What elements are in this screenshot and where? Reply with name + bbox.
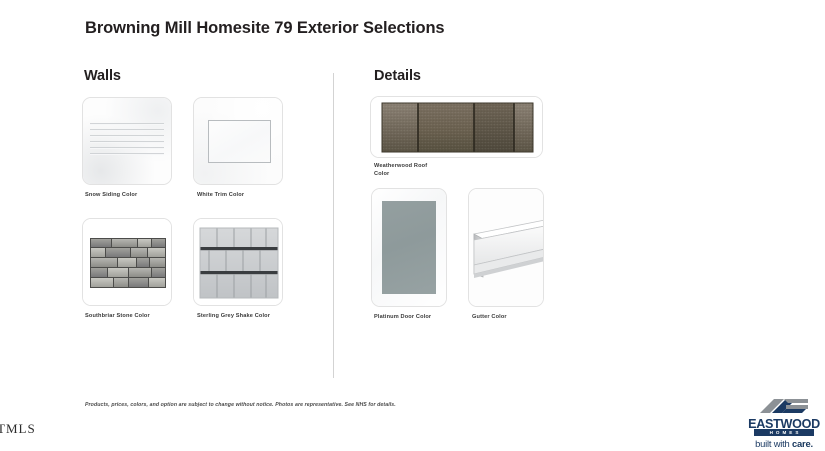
southbriar-stone-swatch — [82, 218, 172, 306]
logo-tagline-plain: built with — [755, 438, 792, 449]
sterling-grey-shake-swatch — [193, 218, 283, 306]
snow-siding-texture — [83, 98, 171, 184]
southbriar-stone-texture — [83, 219, 171, 305]
southbriar-stone-caption: Southbriar Stone Color — [85, 312, 150, 320]
weatherwood-roof-texture — [371, 97, 542, 157]
section-heading-walls: Walls — [84, 68, 121, 84]
weatherwood-roof-caption: Weatherwood Roof Color — [374, 162, 427, 178]
gutter-color-caption: Gutter Color — [472, 313, 507, 321]
platinum-door-texture — [372, 189, 446, 306]
page-title: Browning Mill Homesite 79 Exterior Selec… — [85, 19, 445, 38]
tmls-watermark: TMLS — [0, 421, 36, 437]
weatherwood-roof-swatch — [370, 96, 543, 158]
gutter-color-swatch — [468, 188, 544, 307]
sterling-grey-shake-caption: Sterling Grey Shake Color — [197, 312, 270, 320]
logo-tagline: built with care. — [745, 438, 823, 449]
column-divider — [333, 73, 334, 378]
white-trim-swatch — [193, 97, 283, 185]
section-heading-details: Details — [374, 68, 421, 84]
logo-subtitle: HOMES — [754, 429, 814, 436]
snow-siding-swatch — [82, 97, 172, 185]
white-trim-texture — [194, 98, 282, 184]
gutter-color-texture — [469, 189, 543, 306]
snow-siding-caption: Snow Siding Color — [85, 191, 137, 199]
sterling-grey-shake-texture — [194, 219, 282, 305]
eastwood-homes-logo: EASTWOOD HOMES built with care. — [745, 396, 823, 448]
white-trim-caption: White Trim Color — [197, 191, 244, 199]
logo-tagline-accent: care. — [792, 438, 813, 449]
platinum-door-caption: Platinum Door Color — [374, 313, 431, 321]
disclaimer-text: Products, prices, colors, and option are… — [85, 402, 396, 408]
platinum-door-swatch — [371, 188, 447, 307]
eastwood-e-mark-icon — [758, 396, 810, 418]
